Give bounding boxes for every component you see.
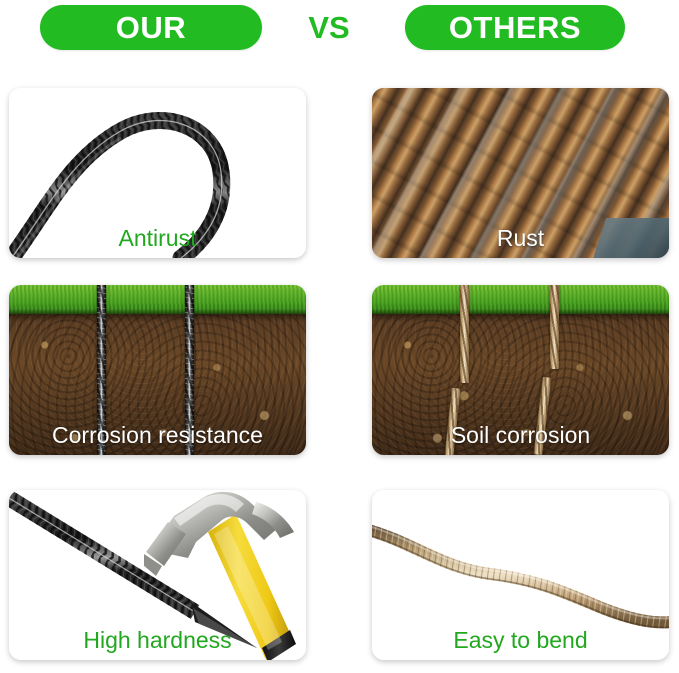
card-easy-to-bend: Easy to bend [372, 490, 669, 660]
concrete-corner [592, 218, 669, 258]
card-high-hardness: High hardness [9, 490, 306, 660]
rebar-hook-icon [9, 88, 306, 258]
bent-rod-icon [372, 490, 669, 660]
vs-label: VS [297, 12, 361, 43]
our-badge: OUR [40, 5, 262, 50]
card-corrosion-resistance: Corrosion resistance [9, 285, 306, 455]
soil-cross-section-icon [9, 285, 306, 455]
corroded-stake-left-upper [460, 285, 469, 383]
our-label: OUR [116, 12, 186, 43]
others-badge: OTHERS [405, 5, 625, 50]
grass-layer [372, 285, 669, 314]
comparison-grid: Antirust Rust Corrosion resistance [0, 60, 679, 673]
soil-cross-section-icon [372, 285, 669, 455]
card-soil-corrosion: Soil corrosion [372, 285, 669, 455]
corroded-stake-right-upper [550, 285, 559, 369]
bend-scene [372, 490, 669, 660]
rebar-hook-svg [9, 88, 306, 258]
soil-layer [372, 314, 669, 455]
hardness-scene [9, 490, 306, 660]
others-label: OTHERS [449, 12, 581, 43]
grass-layer [9, 285, 306, 314]
card-antirust: Antirust [9, 88, 306, 258]
claw-hammer-icon [144, 490, 304, 660]
black-stake-right [185, 285, 194, 455]
card-rust: Rust [372, 88, 669, 258]
rusty-rebar-bundle-icon [372, 88, 669, 258]
soil-layer [9, 314, 306, 455]
comparison-header: OUR VS OTHERS [0, 0, 679, 60]
black-stake-left [97, 285, 106, 455]
